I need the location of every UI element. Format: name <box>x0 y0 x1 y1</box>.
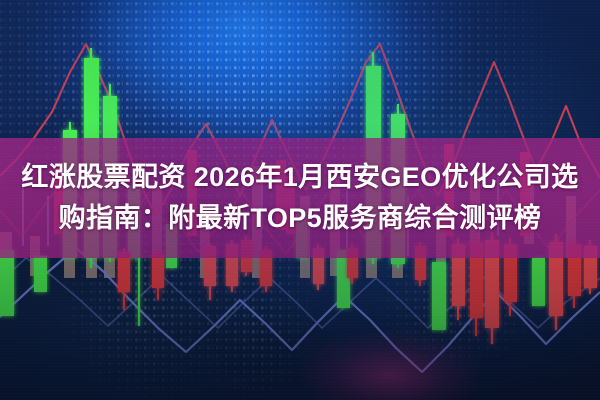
title-block: 红涨股票配资 2026年1月西安GEO优化公司选 购指南：附最新TOP5服务商综… <box>0 138 600 258</box>
stock-banner-image: 红涨股票配资 2026年1月西安GEO优化公司选 购指南：附最新TOP5服务商综… <box>0 0 600 400</box>
title-line-1: 红涨股票配资 2026年1月西安GEO优化公司选 <box>21 159 578 196</box>
title-line-2: 购指南：附最新TOP5服务商综合测评榜 <box>59 200 542 237</box>
